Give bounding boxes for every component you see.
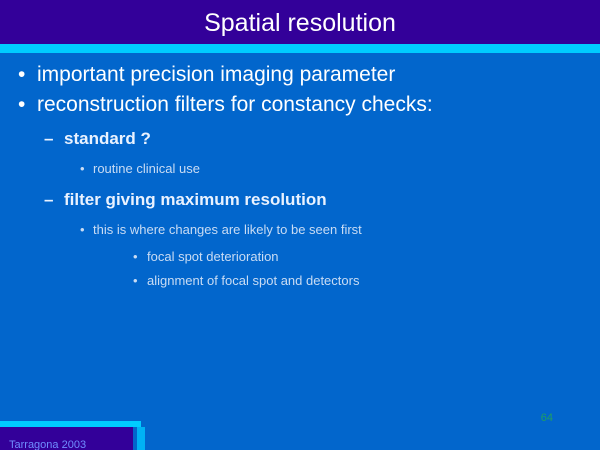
bullet-glyph-level3: • [80,156,93,181]
page-title: Spatial resolution [0,8,600,38]
footer-tab [137,427,145,450]
bullet-item-level3: •this is where changes are likely to be … [0,217,600,242]
bullet-glyph-level3: • [80,217,93,242]
page-number: 64 [541,412,553,425]
bullet-glyph-level1: • [18,60,37,90]
bullet-item-level1: •important precision imaging parameter [0,60,600,90]
bullet-item-level4: •focal spot deterioration [0,245,600,269]
slide-body: •important precision imaging parameter •… [0,60,600,390]
bullet-text: alignment of focal spot and detectors [147,273,359,288]
bullet-item-level1: •reconstruction filters for constancy ch… [0,90,600,120]
footer-label: Tarragona 2003 [9,438,86,450]
bullet-glyph-level2: – [44,125,64,153]
bullet-glyph-level2: – [44,186,64,214]
bullet-text: filter giving maximum resolution [64,190,327,209]
slide: Spatial resolution •important precision … [0,0,600,450]
footer: Tarragona 2003 [0,421,146,450]
footer-box: Tarragona 2003 [0,427,133,450]
bullet-item-level4: •alignment of focal spot and detectors [0,269,600,293]
accent-band-blue [0,53,600,56]
bullet-text: this is where changes are likely to be s… [93,222,362,237]
bullet-text: reconstruction filters for constancy che… [37,93,433,116]
bullet-glyph-level4: • [133,269,147,293]
bullet-text: routine clinical use [93,161,200,176]
bullet-glyph-level1: • [18,90,37,120]
bullet-text: important precision imaging parameter [37,63,395,86]
bullet-text: focal spot deterioration [147,249,279,264]
title-banner: Spatial resolution [0,0,600,44]
bullet-item-level2: –filter giving maximum resolution [0,186,600,214]
bullet-glyph-level4: • [133,245,147,269]
bullet-text: standard ? [64,129,151,148]
bullet-item-level3: •routine clinical use [0,156,600,181]
bullet-item-level2: –standard ? [0,125,600,153]
accent-band-cyan [0,44,600,53]
